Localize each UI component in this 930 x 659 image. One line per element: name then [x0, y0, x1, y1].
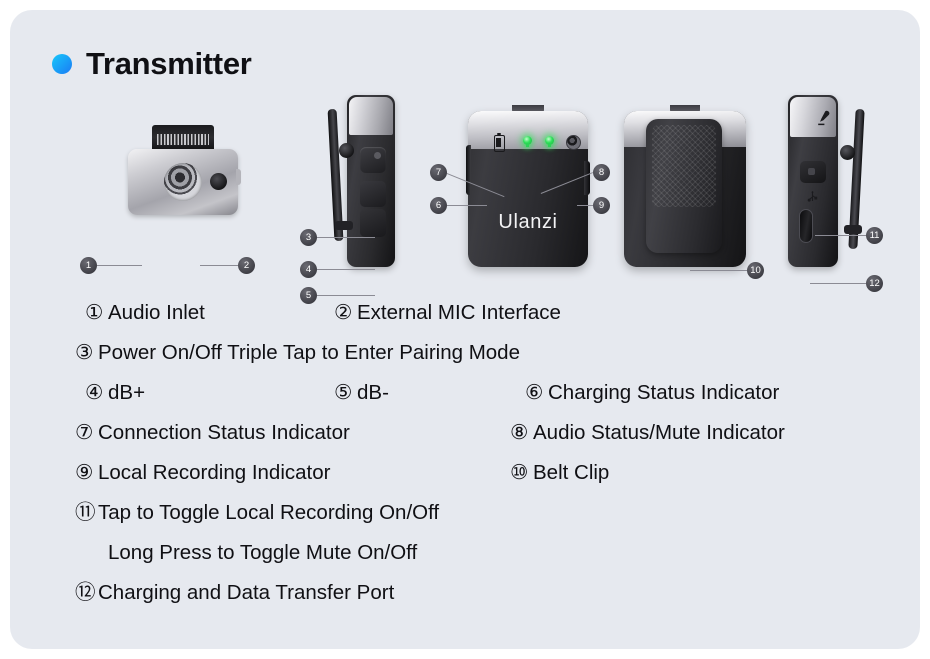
db-plus-button[interactable]	[360, 181, 386, 207]
callout-8[interactable]: 8	[593, 164, 610, 181]
product-diagram-page: Transmitter 1 2	[0, 0, 930, 659]
callout-6[interactable]: 6	[430, 197, 447, 214]
callout-4[interactable]: 4	[300, 261, 317, 278]
legend-row: ①Audio Inlet ②External MIC Interface	[20, 293, 910, 333]
leader-line-6	[447, 205, 487, 206]
connector-pins	[157, 134, 209, 145]
callout-2[interactable]: 2	[238, 257, 255, 274]
page-title: Transmitter	[86, 48, 252, 79]
right-edge	[584, 161, 590, 195]
leader-line-10	[690, 270, 747, 271]
legend-row: ④dB+ ⑤dB- ⑥Charging Status Indicator	[20, 373, 910, 413]
legend-row: ⑫Charging and Data Transfer Port	[20, 573, 910, 613]
callout-10[interactable]: 10	[747, 262, 764, 279]
brand-logo: Ulanzi	[462, 211, 594, 234]
legend-num: ⑫	[75, 573, 98, 613]
legend-num: ⑦	[75, 413, 98, 453]
legend-text: dB-	[357, 381, 389, 404]
product-view-top	[102, 125, 262, 245]
product-view-back	[618, 99, 768, 267]
legend-item-4: ④dB+	[85, 373, 145, 413]
product-view-right-side	[780, 95, 900, 267]
top-face-plate	[128, 149, 238, 215]
legend-row: ⑨Local Recording Indicator ⑩Belt Clip	[20, 453, 910, 493]
callout-11[interactable]: 11	[866, 227, 883, 244]
legend-row: Long Press to Toggle Mute On/Off	[20, 533, 910, 573]
legend-item-10: ⑩Belt Clip	[510, 453, 609, 493]
callout-1[interactable]: 1	[80, 257, 97, 274]
bullet-dot-icon	[52, 54, 72, 74]
battery-icon	[494, 135, 505, 152]
legend-num: ④	[85, 373, 108, 413]
product-view-left-side	[305, 95, 425, 267]
callout-3[interactable]: 3	[300, 229, 317, 246]
content-panel: Transmitter 1 2	[10, 10, 920, 649]
leader-line-12	[810, 283, 866, 284]
legend-text: Audio Inlet	[108, 301, 205, 324]
belt-clip-arm	[838, 109, 872, 249]
callout-12[interactable]: 12	[866, 275, 883, 292]
local-recording-indicator-icon	[566, 135, 581, 150]
side-nub	[236, 169, 241, 185]
legend-text: Local Recording Indicator	[98, 461, 330, 484]
legend-text: Power On/Off Triple Tap to Enter Pairing…	[98, 341, 520, 364]
legend-text: Charging and Data Transfer Port	[98, 581, 394, 604]
leader-line-3	[317, 237, 375, 238]
leader-line-5	[317, 295, 375, 296]
legend-num: ⑪	[75, 493, 98, 533]
clip-texture	[652, 125, 716, 207]
product-view-front: Ulanzi	[462, 99, 602, 267]
leader-line-11	[815, 235, 866, 236]
external-mic-port-icon	[210, 173, 227, 190]
local-record-button[interactable]	[800, 161, 826, 183]
callout-9[interactable]: 9	[593, 197, 610, 214]
page-header: Transmitter	[52, 48, 252, 79]
leader-line-2	[200, 265, 238, 266]
legend-item-2: ②External MIC Interface	[334, 293, 561, 333]
legend-row: ⑦Connection Status Indicator ⑧Audio Stat…	[20, 413, 910, 453]
legend-item-11: ⑪Tap to Toggle Local Recording On/Off	[75, 493, 439, 533]
leader-line-1	[97, 265, 142, 266]
belt-clip	[646, 119, 722, 253]
power-button	[360, 147, 386, 173]
leader-line-9	[577, 205, 593, 206]
callout-7[interactable]: 7	[430, 164, 447, 181]
belt-clip-arm	[323, 109, 351, 241]
legend-text: Charging Status Indicator	[548, 381, 779, 404]
legend-text: External MIC Interface	[357, 301, 561, 324]
legend-num: ⑩	[510, 453, 533, 493]
left-edge	[466, 145, 471, 195]
audio-inlet-icon	[164, 163, 202, 201]
connector-block	[152, 125, 214, 151]
legend-num: ⑨	[75, 453, 98, 493]
legend-item-1: ①Audio Inlet	[85, 293, 205, 333]
usb-icon	[805, 191, 820, 204]
legend-item-6: ⑥Charging Status Indicator	[525, 373, 779, 413]
legend-num: ⑧	[510, 413, 533, 453]
legend-item-12: ⑫Charging and Data Transfer Port	[75, 573, 394, 613]
legend-text: Connection Status Indicator	[98, 421, 350, 444]
legend-item-9: ⑨Local Recording Indicator	[75, 453, 330, 493]
legend-text: dB+	[108, 381, 145, 404]
legend-item-3: ③Power On/Off Triple Tap to Enter Pairin…	[75, 333, 520, 373]
legend-item-11-continued: Long Press to Toggle Mute On/Off	[108, 533, 417, 573]
legend-item-7: ⑦Connection Status Indicator	[75, 413, 350, 453]
legend-text: Long Press to Toggle Mute On/Off	[108, 541, 417, 564]
product-views-stage: 1 2 3 4 5	[10, 85, 920, 280]
legend-num: ⑥	[525, 373, 548, 413]
silver-top-band	[349, 97, 393, 135]
legend-item-5: ⑤dB-	[334, 373, 389, 413]
legend-row: ⑪Tap to Toggle Local Recording On/Off	[20, 493, 910, 533]
leader-line-4	[317, 269, 375, 270]
legend-text: Tap to Toggle Local Recording On/Off	[98, 501, 439, 524]
db-minus-button[interactable]	[360, 209, 386, 237]
legend-text: Belt Clip	[533, 461, 609, 484]
legend-row: ③Power On/Off Triple Tap to Enter Pairin…	[20, 333, 910, 373]
microphone-icon	[816, 110, 830, 127]
connection-status-led-icon	[522, 134, 533, 147]
silver-top-band	[790, 97, 836, 137]
legend-text: Audio Status/Mute Indicator	[533, 421, 785, 444]
legend-list: ①Audio Inlet ②External MIC Interface ③Po…	[20, 293, 910, 613]
legend-num: ③	[75, 333, 98, 373]
legend-num: ⑤	[334, 373, 357, 413]
callout-5[interactable]: 5	[300, 287, 317, 304]
audio-status-led-icon	[544, 134, 555, 147]
legend-num: ②	[334, 293, 357, 333]
legend-num: ①	[85, 293, 108, 333]
silver-indicator-band	[468, 111, 588, 149]
usb-c-port	[799, 209, 813, 243]
legend-item-8: ⑧Audio Status/Mute Indicator	[510, 413, 785, 453]
